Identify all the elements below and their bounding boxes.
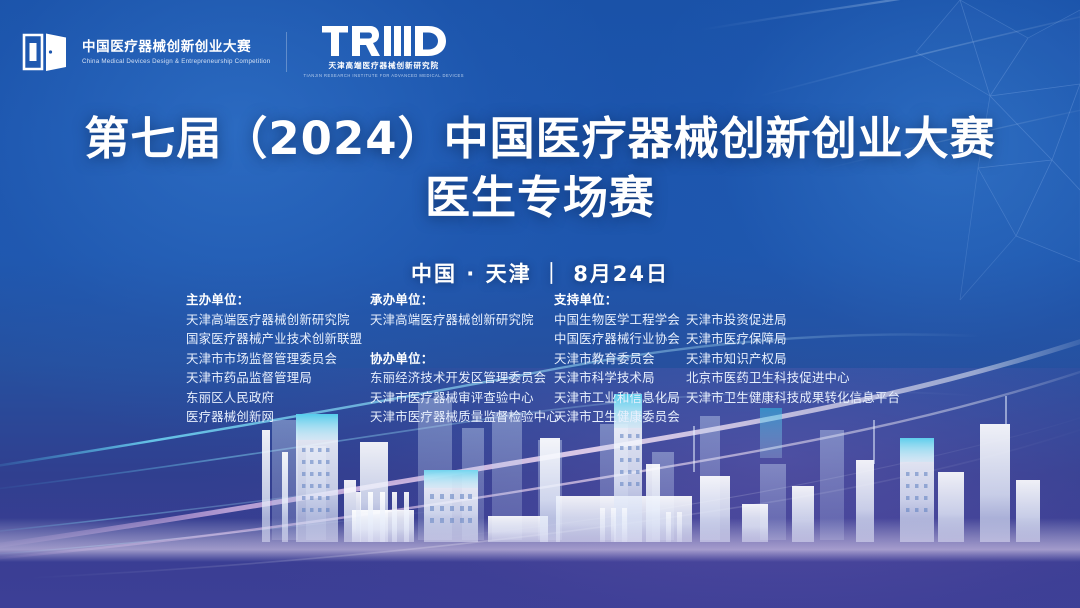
list-item: 东丽经济技术开发区管理委员会 [370,368,554,388]
list-item: 天津市教育委员会 [554,349,682,369]
title-line-2: 医生专场赛 [0,171,1080,224]
list-item: 天津市医疗保障局 [682,329,892,349]
trimd-wordmark-icon [322,26,446,56]
list-item: 天津高端医疗器械创新研究院 [370,310,554,330]
list-item: 天津市药品监督管理局 [186,368,370,388]
list-item: 天津市市场监督管理委员会 [186,349,370,369]
organizer-label: 承办单位： [370,290,554,310]
organizer-column: 承办单位： 天津高端医疗器械创新研究院 协办单位： 东丽经济技术开发区管理委员会… [370,290,554,427]
host-label: 主办单位： [186,290,370,310]
competition-logo-text: 中国医疗器械创新创业大赛 China Medical Devices Desig… [82,39,270,65]
list-item: 中国医疗器械行业协会 [554,329,682,349]
organizations-block: 主办单位： 天津高端医疗器械创新研究院 国家医疗器械产业技术创新联盟 天津市市场… [186,290,892,427]
list-item: 天津市科学技术局 [554,368,682,388]
list-item: 医疗器械创新网 [186,407,370,427]
open-book-door-icon [22,31,68,73]
header-logo-bar: 中国医疗器械创新创业大赛 China Medical Devices Desig… [22,26,464,78]
poster-canvas: 中国医疗器械创新创业大赛 China Medical Devices Desig… [0,0,1080,608]
list-item: 天津市知识产权局 [682,349,892,369]
list-item: 天津市工业和信息化局 [554,388,682,408]
supporters-label: 支持单位： [554,290,682,310]
title-line-1: 第七届（2024）中国医疗器械创新创业大赛 [0,112,1080,165]
list-item: 北京市医药卫生科技促进中心 [682,368,892,388]
logo-divider [286,32,287,72]
competition-name-en: China Medical Devices Design & Entrepren… [82,58,270,65]
list-item: 国家医疗器械产业技术创新联盟 [186,329,370,349]
list-item: 天津市投资促进局 [682,310,892,330]
coorganizer-label: 协办单位： [370,349,554,369]
list-item: 天津市医疗器械质量监督检验中心 [370,407,554,427]
competition-name-cn: 中国医疗器械创新创业大赛 [82,39,270,55]
event-location-date: 中国 · 天津 ｜ 8月24日 [0,258,1080,288]
institute-name-en: TIANJIN RESEARCH INSTITUTE FOR ADVANCED … [303,73,464,78]
institute-name-cn: 天津高端医疗器械创新研究院 [329,60,439,71]
institute-logo: 天津高端医疗器械创新研究院 TIANJIN RESEARCH INSTITUTE… [303,26,464,78]
column-spacer [370,329,554,349]
list-item: 天津高端医疗器械创新研究院 [186,310,370,330]
list-item: 天津市卫生健康科技成果转化信息平台 [682,388,892,408]
host-column: 主办单位： 天津高端医疗器械创新研究院 国家医疗器械产业技术创新联盟 天津市市场… [186,290,370,427]
list-item: 天津市医疗器械审评查验中心 [370,388,554,408]
supporters-column-left: 支持单位： 中国生物医学工程学会 中国医疗器械行业协会 天津市教育委员会 天津市… [554,290,682,427]
list-item: 天津市卫生健康委员会 [554,407,682,427]
supporters-column-right: 天津市投资促进局 天津市医疗保障局 天津市知识产权局 北京市医药卫生科技促进中心… [682,290,892,407]
list-item: 东丽区人民政府 [186,388,370,408]
list-item: 中国生物医学工程学会 [554,310,682,330]
page-title: 第七届（2024）中国医疗器械创新创业大赛 医生专场赛 [0,112,1080,224]
